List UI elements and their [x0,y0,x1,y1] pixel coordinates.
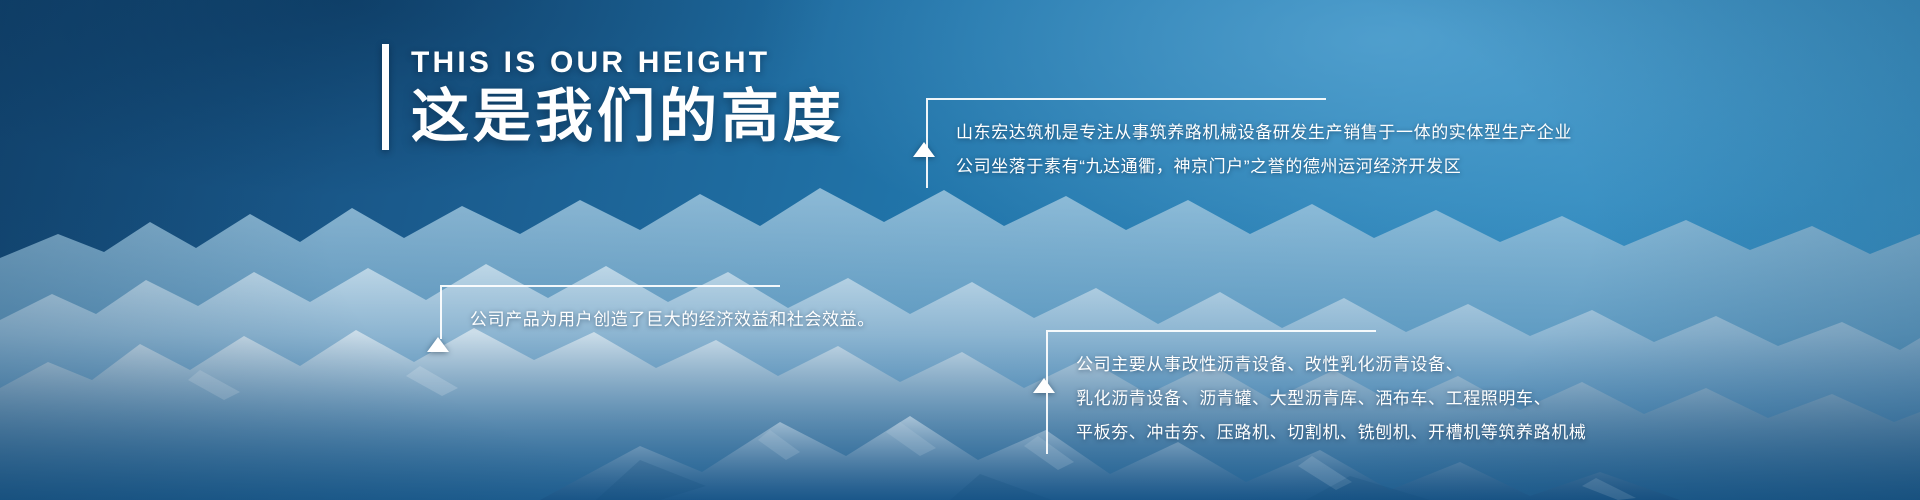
callout-products-frame: 公司主要从事改性沥青设备、改性乳化沥青设备、 乳化沥青设备、沥青罐、大型沥青库、… [1046,330,1376,454]
title-chinese: 这是我们的高度 [411,83,845,150]
callout-benefit: 公司产品为用户创造了巨大的经济效益和社会效益。 [440,285,780,339]
triangle-up-marker-icon [427,337,449,352]
hero-banner: THIS IS OUR HEIGHT 这是我们的高度 山东宏达筑机是专注从事筑养… [0,0,1920,500]
title-accent-bar [382,44,389,150]
callout-benefit-line-1: 公司产品为用户创造了巨大的经济效益和社会效益。 [470,303,780,337]
callout-products-line-2: 乳化沥青设备、沥青罐、大型沥青库、洒布车、工程照明车、 [1076,382,1376,416]
callout-company-line-2: 公司坐落于素有“九达通衢，神京门户”之誉的德州运河经济开发区 [956,150,1326,184]
callout-company: 山东宏达筑机是专注从事筑养路机械设备研发生产销售于一体的实体型生产企业 公司坐落… [926,98,1326,188]
callout-company-line-1: 山东宏达筑机是专注从事筑养路机械设备研发生产销售于一体的实体型生产企业 [956,116,1326,150]
callout-company-frame: 山东宏达筑机是专注从事筑养路机械设备研发生产销售于一体的实体型生产企业 公司坐落… [926,98,1326,188]
title-english: THIS IS OUR HEIGHT [411,47,845,79]
callout-products-line-3: 平板夯、冲击夯、压路机、切割机、铣刨机、开槽机等筑养路机械 [1076,416,1376,450]
page-title: THIS IS OUR HEIGHT 这是我们的高度 [382,44,845,150]
callout-benefit-frame: 公司产品为用户创造了巨大的经济效益和社会效益。 [440,285,780,339]
callout-products-line-1: 公司主要从事改性沥青设备、改性乳化沥青设备、 [1076,348,1376,382]
callout-products: 公司主要从事改性沥青设备、改性乳化沥青设备、 乳化沥青设备、沥青罐、大型沥青库、… [1046,330,1376,454]
